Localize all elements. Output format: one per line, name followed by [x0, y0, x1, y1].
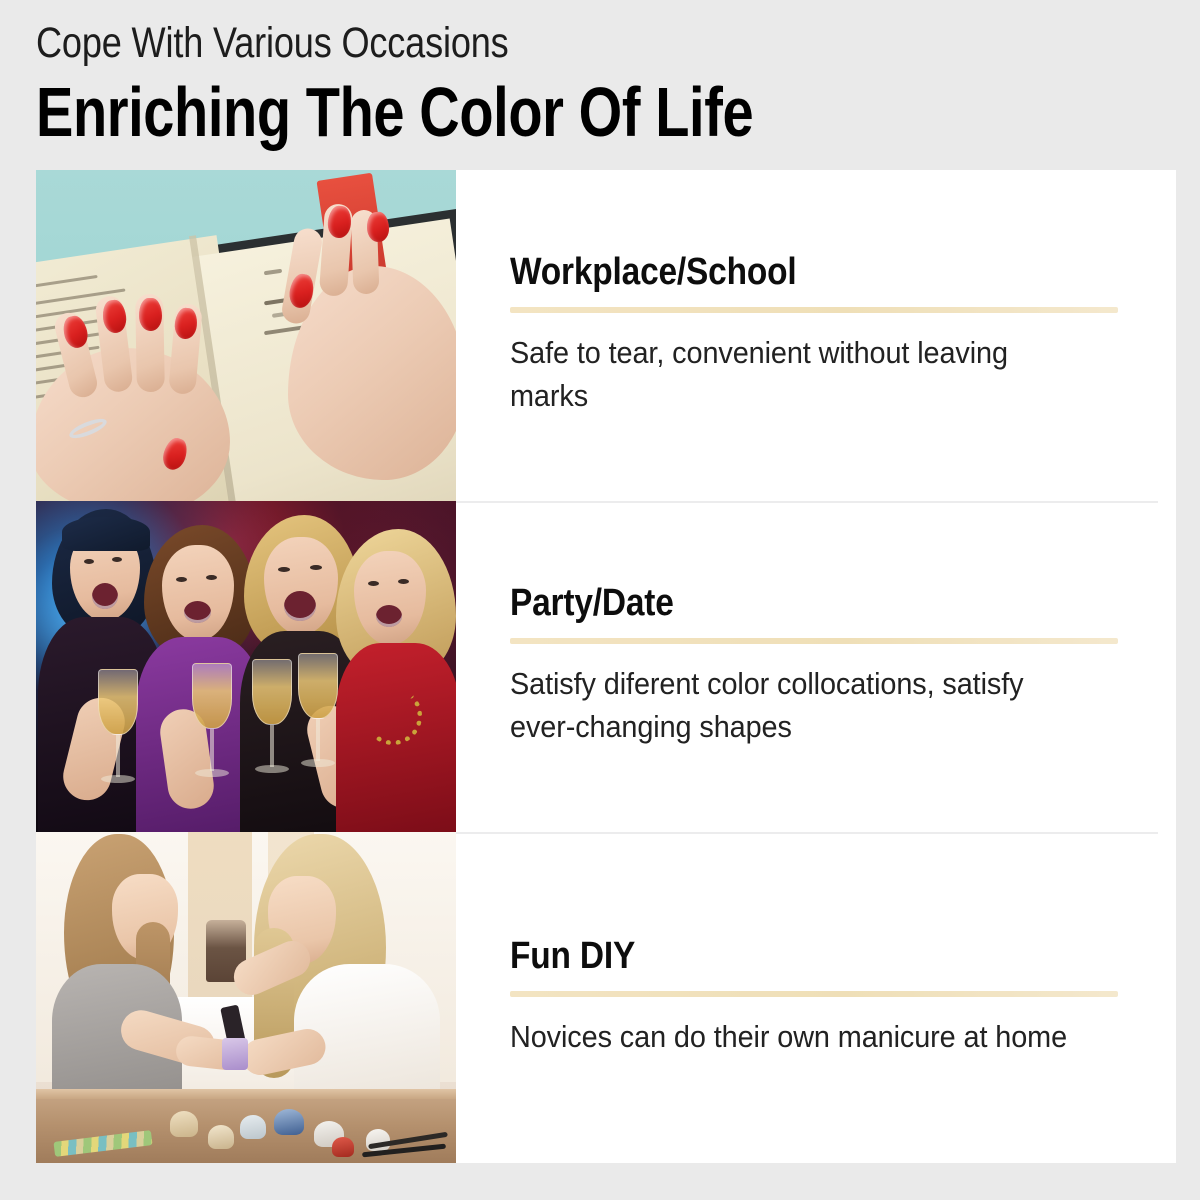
- glass-foot: [301, 759, 335, 767]
- supply-jar-red: [332, 1137, 354, 1157]
- thumbnail-workplace-school: [36, 170, 456, 501]
- image-hands-on-book: [36, 170, 456, 501]
- text-cell-fun-diy: Fun DIY Novices can do their own manicur…: [456, 832, 1176, 1163]
- feature-row-party-date: Party/Date Satisfy diferent color colloc…: [36, 501, 1158, 832]
- nail: [366, 211, 390, 242]
- eye: [398, 579, 409, 584]
- section-rule: [510, 991, 1118, 997]
- section-body-workplace-school: Safe to tear, convenient without leaving…: [510, 332, 1075, 418]
- table-edge: [36, 1089, 456, 1099]
- eye: [176, 577, 187, 582]
- glass-foot: [255, 765, 289, 773]
- mouth: [376, 605, 402, 627]
- image-party-champagne: [36, 501, 456, 832]
- glass-stem: [270, 725, 274, 767]
- eye: [278, 567, 290, 572]
- polish-bottle: [222, 1038, 248, 1070]
- champagne-glass: [192, 663, 232, 729]
- thumbnail-party-date: [36, 501, 456, 832]
- supply-jar-blue: [274, 1109, 304, 1135]
- text-cell-party-date: Party/Date Satisfy diferent color colloc…: [456, 501, 1176, 832]
- feature-row-fun-diy: Fun DIY Novices can do their own manicur…: [36, 832, 1158, 1163]
- champagne-glass: [98, 669, 138, 735]
- glass-stem: [116, 735, 120, 777]
- section-title-party-date: Party/Date: [510, 584, 1045, 622]
- glass-stem: [316, 719, 320, 761]
- supply-jar: [170, 1111, 198, 1137]
- mouth: [284, 591, 316, 621]
- supply-jar: [240, 1115, 266, 1139]
- eye: [206, 575, 217, 580]
- champagne-glass: [252, 659, 292, 725]
- eye: [310, 565, 322, 570]
- text-cell-workplace-school: Workplace/School Safe to tear, convenien…: [456, 170, 1176, 501]
- supply-jar: [208, 1125, 234, 1149]
- necklace: [364, 687, 422, 745]
- mouth: [184, 601, 211, 623]
- mouth: [92, 583, 118, 609]
- page-header: Cope With Various Occasions Enriching Th…: [36, 22, 1156, 147]
- section-rule: [510, 307, 1118, 313]
- champagne-glass: [298, 653, 338, 719]
- eye: [84, 559, 94, 564]
- glass-stem: [210, 729, 214, 771]
- glass-foot: [195, 769, 229, 777]
- thumbnail-fun-diy: [36, 832, 456, 1163]
- section-title-workplace-school: Workplace/School: [510, 253, 1045, 291]
- section-rule: [510, 638, 1118, 644]
- section-body-party-date: Satisfy diferent color collocations, sat…: [510, 663, 1075, 749]
- section-body-fun-diy: Novices can do their own manicure at hom…: [510, 1016, 1075, 1059]
- image-home-manicure: [36, 832, 456, 1163]
- section-title-fun-diy: Fun DIY: [510, 937, 1045, 975]
- feature-card: Workplace/School Safe to tear, convenien…: [36, 170, 1158, 1163]
- eye: [112, 557, 122, 562]
- nail: [139, 298, 163, 331]
- feature-row-workplace-school: Workplace/School Safe to tear, convenien…: [36, 170, 1158, 501]
- page-title: Enriching The Color Of Life: [36, 77, 932, 147]
- hair-bangs: [62, 517, 150, 551]
- glass-foot: [101, 775, 135, 783]
- eye: [368, 581, 379, 586]
- header-eyebrow: Cope With Various Occasions: [36, 22, 977, 66]
